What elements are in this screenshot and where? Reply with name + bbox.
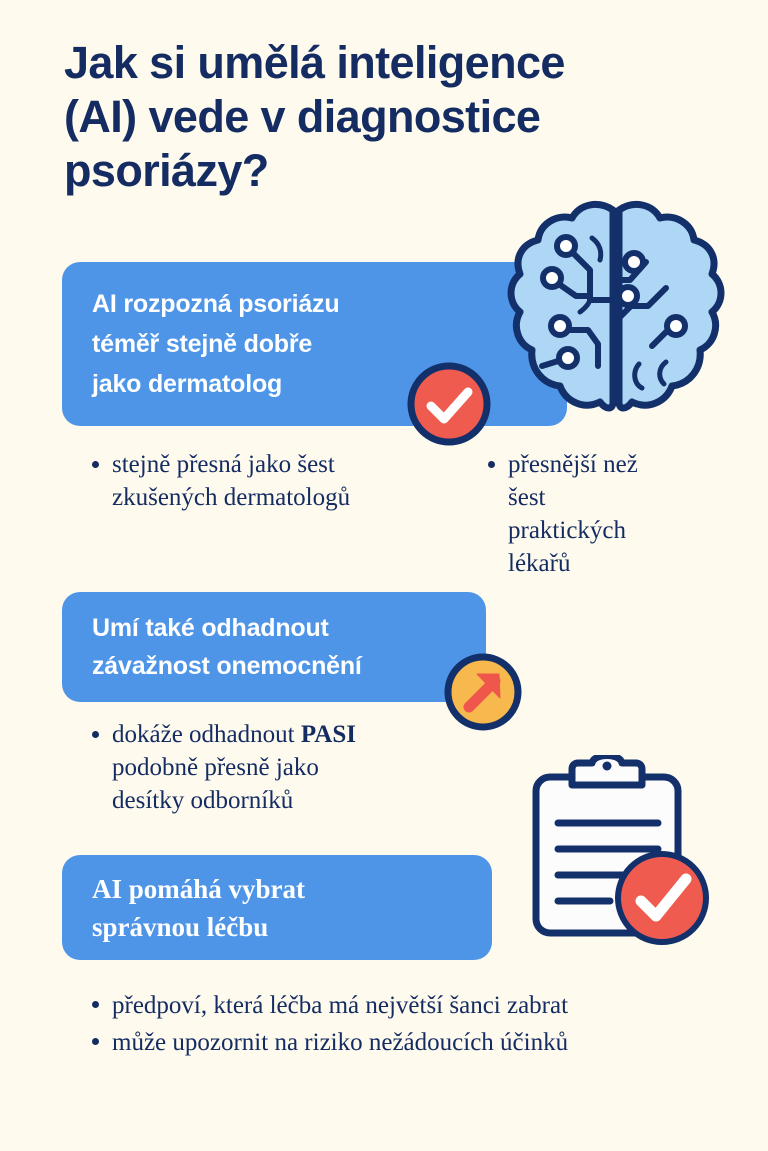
bullet-line: předpoví, která léčba má největší šanci … bbox=[112, 988, 726, 1023]
section-banner-1-text: AI rozpozná psoriázu téměř stejně dobře … bbox=[62, 284, 339, 404]
bullet-line: podobně přesně jako bbox=[112, 751, 456, 784]
brain-icon bbox=[506, 196, 726, 424]
section-2-bullets: dokáže odhadnout PASI podobně přesně jak… bbox=[86, 718, 456, 819]
bullet-line: desítky odborníků bbox=[112, 784, 456, 817]
list-item: stejně přesná jako šest zkušených dermat… bbox=[86, 448, 426, 514]
list-item: předpoví, která léčba má největší šanci … bbox=[86, 988, 726, 1023]
arrow-up-right-badge-icon bbox=[443, 652, 523, 732]
bullet-text-pre: dokáže odhadnout bbox=[112, 721, 301, 748]
check-badge-icon bbox=[406, 361, 492, 447]
list-item: může upozornit na riziko nežádoucích úči… bbox=[86, 1025, 726, 1060]
section-1-bullets-left: stejně přesná jako šest zkušených dermat… bbox=[86, 448, 426, 516]
bullet-line: může upozornit na riziko nežádoucích úči… bbox=[112, 1025, 726, 1060]
bullet-line: dokáže odhadnout PASI bbox=[112, 718, 456, 751]
section-3-bullets: předpoví, která léčba má největší šanci … bbox=[86, 988, 726, 1062]
bullet-line: zkušených dermatologů bbox=[112, 481, 426, 514]
bullet-line: lékařů bbox=[508, 547, 712, 580]
section-banner-3-text: AI pomáhá vybrat správnou léčbu bbox=[62, 870, 305, 946]
page-title: Jak si umělá inteligence (AI) vede v dia… bbox=[64, 36, 724, 198]
section-banner-3: AI pomáhá vybrat správnou léčbu bbox=[62, 855, 492, 960]
section-banner-2-text: Umí také odhadnout závažnost onemocnění bbox=[62, 609, 362, 685]
bullet-line: přesnější než bbox=[508, 448, 712, 481]
list-item: přesnější než šest praktických lékařů bbox=[482, 448, 712, 580]
bullet-line: stejně přesná jako šest bbox=[112, 448, 426, 481]
bullet-line: šest bbox=[508, 481, 712, 514]
bullet-text-bold: PASI bbox=[301, 721, 356, 748]
list-item: dokáže odhadnout PASI podobně přesně jak… bbox=[86, 718, 456, 817]
clipboard-icon bbox=[514, 755, 720, 955]
infographic-poster: Jak si umělá inteligence (AI) vede v dia… bbox=[0, 0, 768, 1151]
section-1-bullets-right: přesnější než šest praktických lékařů bbox=[482, 448, 712, 582]
section-banner-2: Umí také odhadnout závažnost onemocnění bbox=[62, 592, 486, 702]
bullet-line: praktických bbox=[508, 514, 712, 547]
